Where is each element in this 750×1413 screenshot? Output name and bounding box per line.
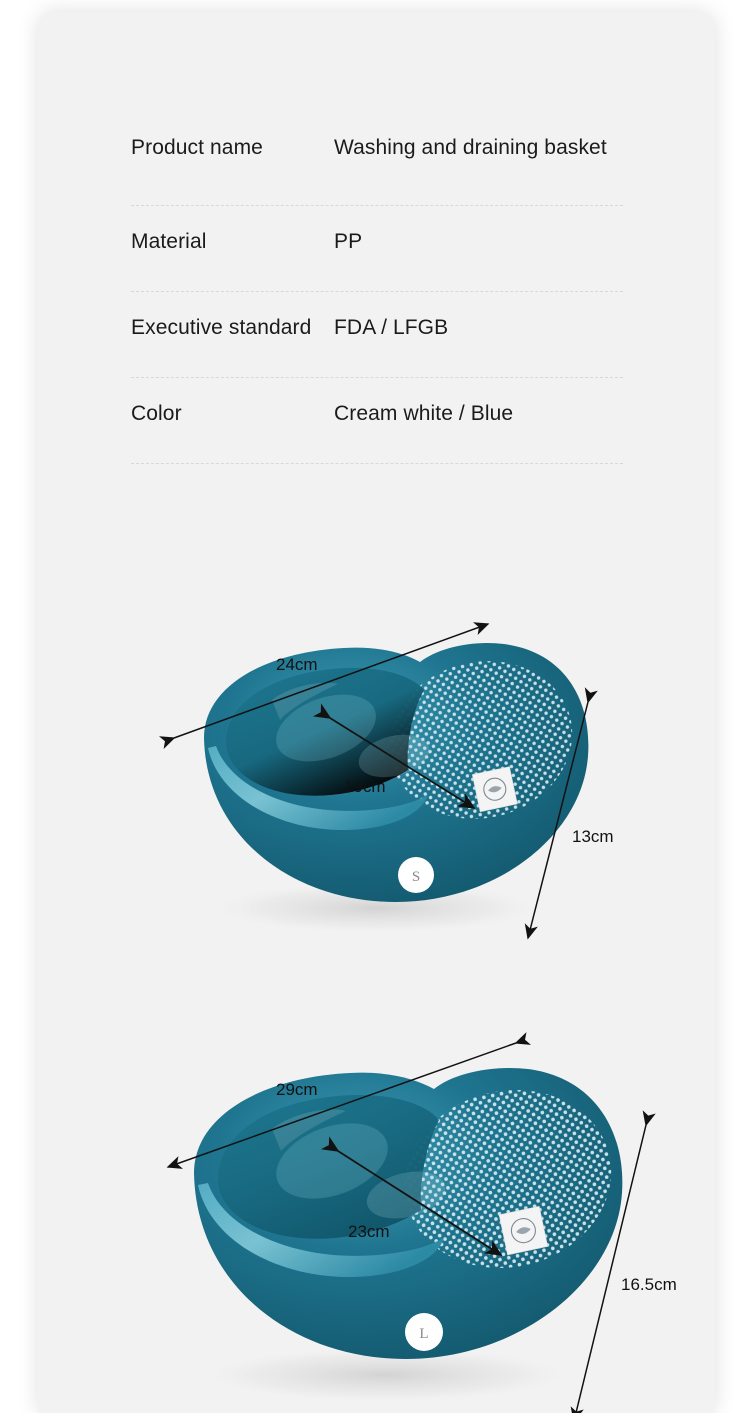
dimension-label-width: 24cm [276, 655, 318, 674]
dimension-label-width: 29cm [276, 1080, 318, 1099]
brand-label-tag [499, 1206, 548, 1255]
table-row: Color Cream white / Blue [131, 378, 623, 464]
table-row: Product name Washing and draining basket [131, 120, 623, 206]
product-detail-page: Product name Washing and draining basket… [0, 0, 750, 1413]
spec-value: FDA / LFGB [334, 314, 623, 341]
spec-value: Cream white / Blue [334, 400, 623, 427]
spec-label: Color [131, 400, 334, 427]
spec-label: Material [131, 228, 334, 255]
specification-table: Product name Washing and draining basket… [131, 120, 623, 464]
size-badge: S [398, 857, 434, 893]
size-badge-label: S [412, 869, 420, 885]
size-badge: L [405, 1313, 443, 1351]
spec-value: Washing and draining basket [334, 134, 623, 161]
brand-label-tag [472, 767, 517, 812]
row-separator [131, 463, 623, 464]
product-figure-large: L 29cm [76, 1007, 715, 1413]
table-row: Material PP [131, 206, 623, 292]
spec-card: Product name Washing and draining basket… [38, 12, 715, 1413]
spec-value: PP [334, 228, 623, 255]
spec-label: Executive standard [131, 314, 334, 341]
product-figure-small: S 24cm [76, 590, 715, 970]
spec-label: Product name [131, 134, 334, 161]
dimension-label-height: 16.5cm [621, 1275, 677, 1294]
dimension-label-inner-diameter: 23cm [348, 1222, 390, 1241]
table-row: Executive standard FDA / LFGB [131, 292, 623, 378]
dimension-label-inner-diameter: 19cm [344, 777, 386, 796]
dimension-label-height: 13cm [572, 827, 614, 846]
size-badge-label: L [419, 1326, 428, 1342]
